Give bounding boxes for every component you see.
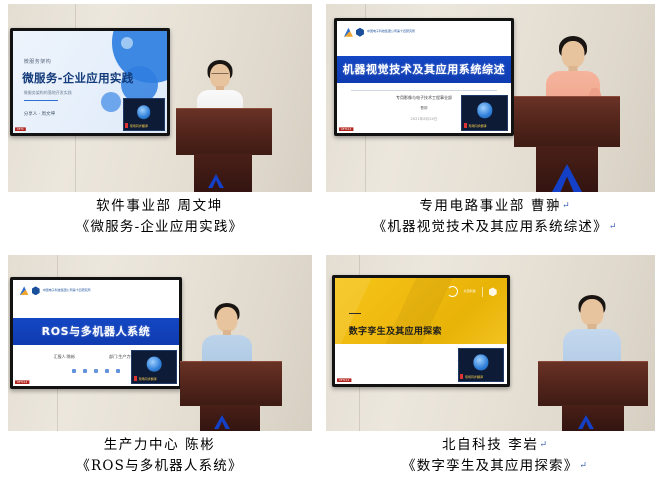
figure-top-left: 微服务架构 微服务-企业应用实践 微服务架构的落地开发实践 分享人 · 周文坤 … xyxy=(0,0,320,250)
caption-line-presenter: 生产力中心 陈彬 xyxy=(0,435,320,456)
bullet-icon xyxy=(94,369,98,373)
slide-org-logo: 中国电子科技集团公司第十四研究所 xyxy=(20,286,91,295)
presentation-screen: 中国电子科技集团公司第十四研究所 ROS与多机器人系统 汇报人:陈彬 部门:生产… xyxy=(10,277,182,389)
pip-label: 现场同步翻译 xyxy=(469,124,487,128)
caption-title-text: 《ROS与多机器人系统》 xyxy=(76,458,242,474)
slide-eyebrow: 微服务架构 xyxy=(24,58,52,65)
head xyxy=(210,64,230,88)
bullet-icon xyxy=(116,369,120,373)
figure-bottom-right: 北自科技 数字孪生及其应用探索 专题汇报 xyxy=(320,250,669,497)
paragraph-mark: ↵ xyxy=(609,222,617,232)
slide-title: 数字孪生及其应用探索 xyxy=(349,324,442,337)
pip-overlay: 现场同步翻译 xyxy=(458,348,505,382)
slide-org-name: 中国电子科技集团公司第十四研究所 xyxy=(367,30,415,34)
figure-top-right: 中国电子科技集团公司第十四研究所 机器视觉技术及其应用系统综述 专用影像与电子技… xyxy=(320,0,669,250)
caption-line-presenter: 专用电路事业部 曹翀↵ xyxy=(320,196,669,217)
presentation-screen: 微服务架构 微服务-企业应用实践 微服务架构的落地开发实践 分享人 · 周文坤 … xyxy=(10,28,170,136)
pip-tag: 现场同步翻译 xyxy=(464,123,487,128)
slide-subtitle: 微服务架构的落地开发实践 xyxy=(24,90,72,96)
slide-top-right: 中国电子科技集团公司第十四研究所 机器视觉技术及其应用系统综述 专用影像与电子技… xyxy=(337,21,511,133)
presentation-screen: 中国电子科技集团公司第十四研究所 机器视觉技术及其应用系统综述 专用影像与电子技… xyxy=(334,18,514,136)
pip-avatar xyxy=(147,357,162,372)
slide-rule xyxy=(24,100,58,101)
pip-avatar xyxy=(137,105,151,119)
slide-speaker: 分享人 · 周文坤 xyxy=(24,111,55,117)
pip-label: 现场同步翻译 xyxy=(139,377,157,381)
caption-line-title: 《ROS与多机器人系统》 xyxy=(0,456,320,477)
screen-watermark: CETC14 xyxy=(337,378,351,382)
caption-title-text: 《数字孪生及其应用探索》 xyxy=(402,458,578,474)
paragraph-mark: ↵ xyxy=(579,461,587,471)
record-dot-icon xyxy=(125,123,128,128)
pip-overlay: 现场同步翻译 xyxy=(461,95,508,131)
document-page: 微服务架构 微服务-企业应用实践 微服务架构的落地开发实践 分享人 · 周文坤 … xyxy=(0,0,669,497)
pip-tag: 现场同步翻译 xyxy=(125,123,148,128)
triangle-logo-icon xyxy=(344,28,353,37)
pip-avatar xyxy=(477,103,492,118)
slide-org-name: 北自科技 xyxy=(464,290,476,294)
caption-line-title: 《微服务-企业应用实践》 xyxy=(0,217,320,238)
head xyxy=(217,307,238,332)
slide-title-band: ROS与多机器人系统 xyxy=(13,318,179,345)
hex-logo-icon xyxy=(489,287,497,296)
slide-org-name: 中国电子科技集团公司第十四研究所 xyxy=(43,289,91,293)
caption-presenter-text: 软件事业部 周文坤 xyxy=(96,198,223,214)
photo-top-left: 微服务架构 微服务-企业应用实践 微服务架构的落地开发实践 分享人 · 周文坤 … xyxy=(8,4,312,192)
caption-line-title: 《数字孪生及其应用探索》↵ xyxy=(320,456,669,477)
pip-label: 现场同步翻译 xyxy=(465,375,483,379)
slide-title: ROS与多机器人系统 xyxy=(42,323,151,339)
caption-top-left: 软件事业部 周文坤 《微服务-企业应用实践》 xyxy=(0,196,320,237)
screen-watermark: CETC xyxy=(15,127,26,131)
glasses-icon xyxy=(212,73,229,76)
paragraph-mark: ↵ xyxy=(562,201,570,211)
screen-watermark: CETC14 xyxy=(339,127,353,131)
caption-line-title: 《机器视觉技术及其应用系统综述》↵ xyxy=(320,217,669,238)
caption-title-text: 《微服务-企业应用实践》 xyxy=(76,219,243,235)
bubble-small xyxy=(101,92,121,112)
hex-logo-icon xyxy=(32,286,40,295)
slide-accent-dash xyxy=(349,313,361,315)
slide-divider xyxy=(351,90,497,91)
ring-logo-icon xyxy=(447,286,458,297)
caption-presenter-text: 北自科技 李岩 xyxy=(442,437,539,453)
lectern xyxy=(180,361,282,406)
slide-title: 微服务-企业应用实践 xyxy=(22,70,133,86)
head xyxy=(581,299,604,326)
slide-title-band: 机器视觉技术及其应用系统综述 xyxy=(337,56,511,83)
record-dot-icon xyxy=(460,374,463,379)
slide-org-logo: 北自科技 xyxy=(447,286,497,297)
slide-bottom-left: 中国电子科技集团公司第十四研究所 ROS与多机器人系统 汇报人:陈彬 部门:生产… xyxy=(13,280,179,386)
bullet-icon xyxy=(105,369,109,373)
presentation-screen: 北自科技 数字孪生及其应用探索 专题汇报 xyxy=(332,275,510,387)
photo-bottom-left: 中国电子科技集团公司第十四研究所 ROS与多机器人系统 汇报人:陈彬 部门:生产… xyxy=(8,255,312,431)
slide-bottom-right: 北自科技 数字孪生及其应用探索 专题汇报 xyxy=(335,278,507,384)
pip-overlay: 现场同步翻译 xyxy=(131,350,176,384)
slide-subtitle: 汇报人:陈彬 xyxy=(54,354,75,360)
caption-line-presenter: 北自科技 李岩↵ xyxy=(320,435,669,456)
pip-tag: 现场同步翻译 xyxy=(134,376,157,381)
lectern xyxy=(514,96,620,147)
lectern xyxy=(538,361,648,406)
caption-bottom-left: 生产力中心 陈彬 《ROS与多机器人系统》 xyxy=(0,435,320,476)
slide-title: 机器视觉技术及其应用系统综述 xyxy=(343,61,505,77)
photo-top-right: 中国电子科技集团公司第十四研究所 机器视觉技术及其应用系统综述 专用影像与电子技… xyxy=(326,4,655,192)
caption-title-text: 《机器视觉技术及其应用系统综述》 xyxy=(373,219,608,235)
bullet-icon xyxy=(83,369,87,373)
lectern-base xyxy=(562,405,624,431)
figure-grid: 微服务架构 微服务-企业应用实践 微服务架构的落地开发实践 分享人 · 周文坤 … xyxy=(0,0,669,497)
paragraph-mark: ↵ xyxy=(539,440,547,450)
lectern xyxy=(176,108,272,155)
caption-presenter-text: 专用电路事业部 曹翀 xyxy=(419,198,561,214)
pip-overlay: 现场同步翻译 xyxy=(123,98,165,131)
bullet-icon xyxy=(72,369,76,373)
logo-divider xyxy=(482,287,483,297)
record-dot-icon xyxy=(134,376,137,381)
slide-top-left: 微服务架构 微服务-企业应用实践 微服务架构的落地开发实践 分享人 · 周文坤 … xyxy=(13,31,167,133)
record-dot-icon xyxy=(464,123,467,128)
pip-label: 现场同步翻译 xyxy=(130,124,148,128)
hex-logo-icon xyxy=(356,28,364,37)
head xyxy=(562,41,585,68)
photo-bottom-right: 北自科技 数字孪生及其应用探索 专题汇报 xyxy=(326,255,655,431)
caption-line-presenter: 软件事业部 周文坤 xyxy=(0,196,320,217)
triangle-logo-icon xyxy=(20,286,29,295)
lectern-base xyxy=(200,405,260,431)
caption-presenter-text: 生产力中心 陈彬 xyxy=(104,437,216,453)
slide-org-logo: 中国电子科技集团公司第十四研究所 xyxy=(344,28,415,37)
caption-bottom-right: 北自科技 李岩↵ 《数字孪生及其应用探索》↵ xyxy=(320,435,669,476)
figure-bottom-left: 中国电子科技集团公司第十四研究所 ROS与多机器人系统 汇报人:陈彬 部门:生产… xyxy=(0,250,320,497)
pip-avatar xyxy=(473,355,488,370)
screen-watermark: CETC14 xyxy=(15,380,29,384)
caption-top-right: 专用电路事业部 曹翀↵ 《机器视觉技术及其应用系统综述》↵ xyxy=(320,196,669,237)
pip-tag: 现场同步翻译 xyxy=(460,374,483,379)
